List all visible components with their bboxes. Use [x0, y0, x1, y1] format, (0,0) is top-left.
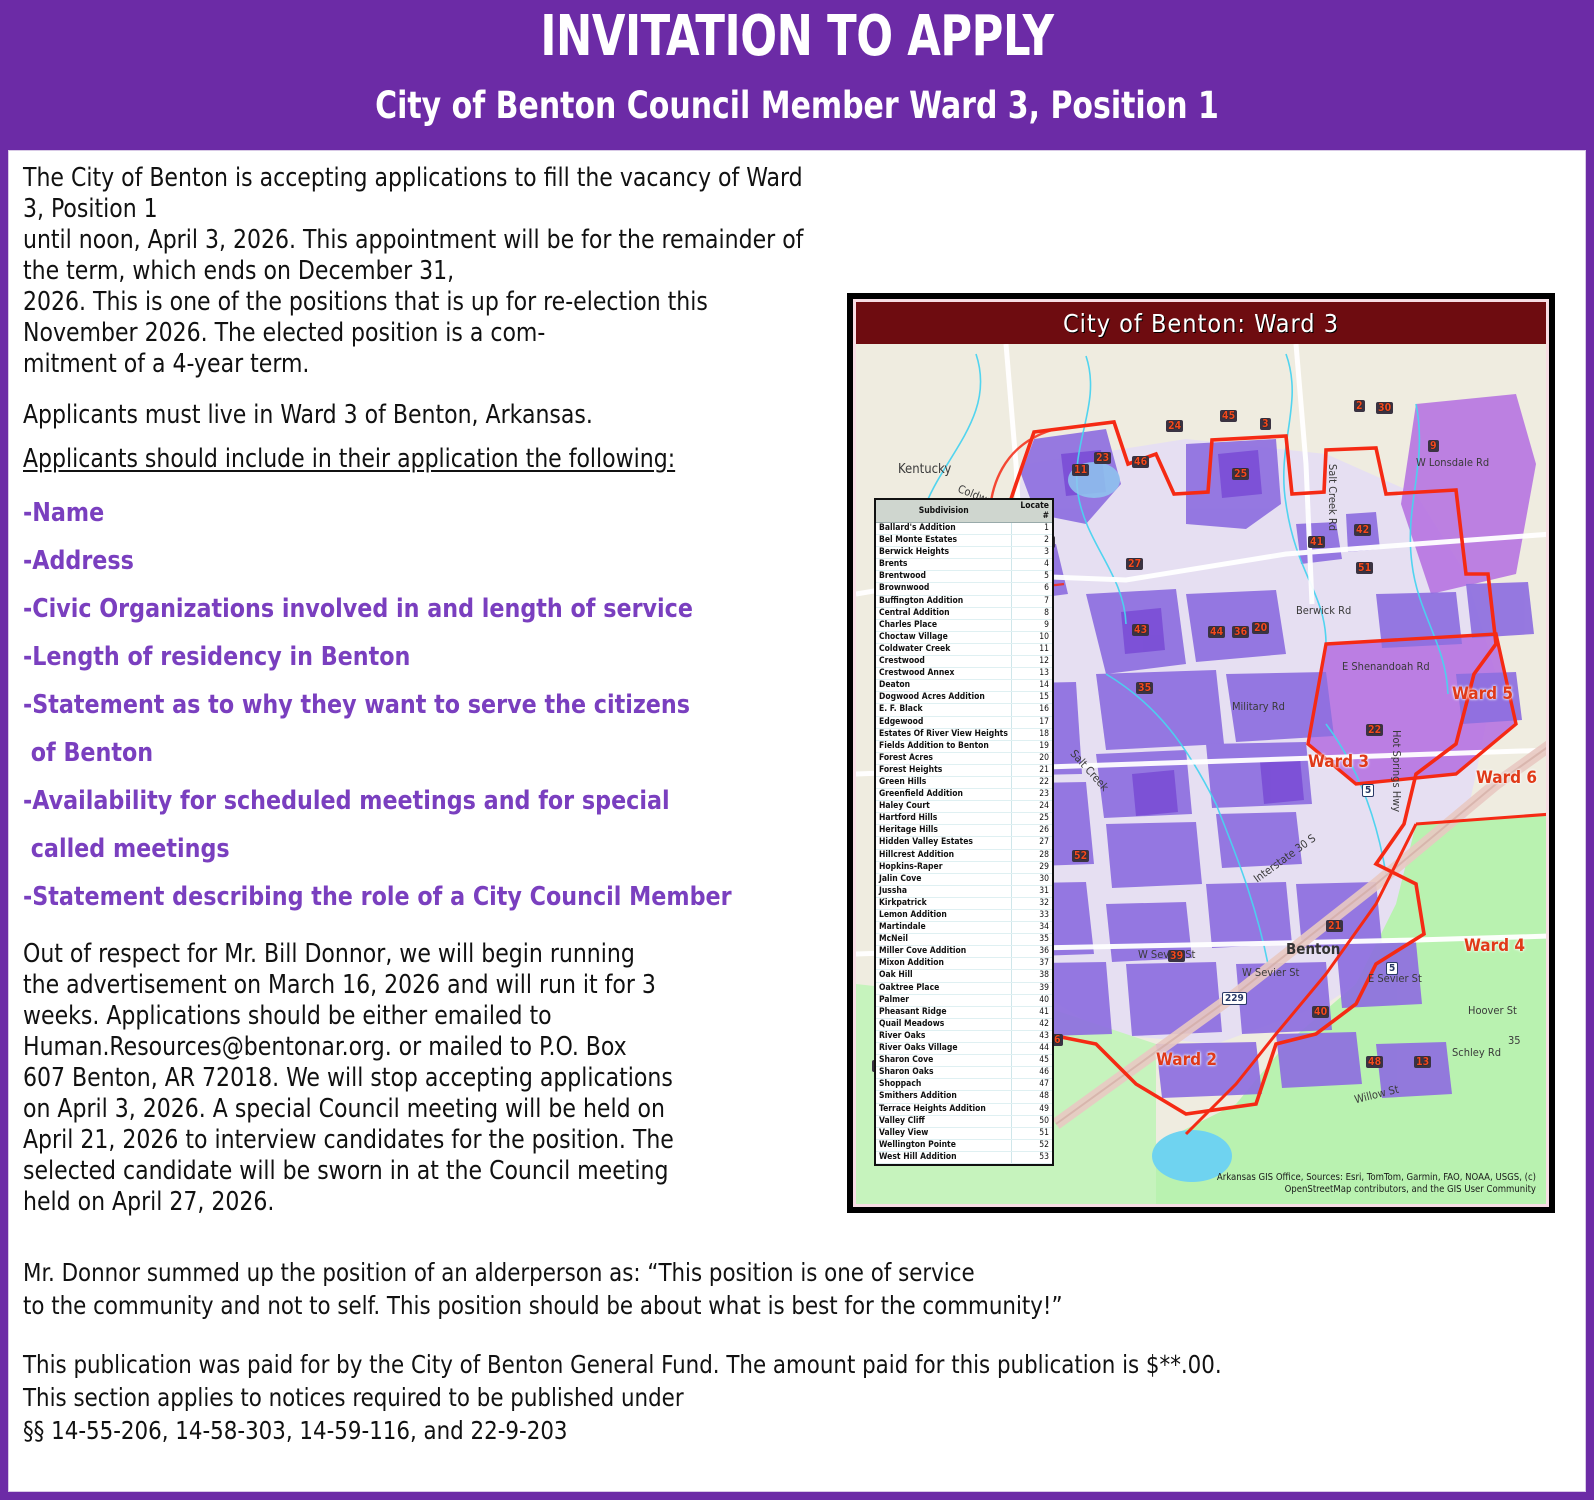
subdivision-marker: 39 — [1168, 950, 1185, 962]
locate-number-cell: 46 — [1011, 1067, 1052, 1079]
ward-label-2: Ward 2 — [1156, 1050, 1217, 1070]
locate-number-cell: 22 — [1011, 776, 1052, 788]
table-row: Quail Meadows42 — [876, 1018, 1052, 1030]
quote-paragraph: Mr. Donnor summed up the position of an … — [23, 1256, 1496, 1322]
subdivision-marker: 9 — [1428, 440, 1439, 452]
locate-number-cell: 4 — [1011, 559, 1052, 571]
subdivision-name-cell: Buffington Addition — [876, 595, 1011, 607]
subdivision-name-cell: Crestwood — [876, 656, 1011, 668]
subdivision-name-cell: Palmer — [876, 994, 1011, 1006]
subdivision-legend[interactable]: Subdivision Locate # Ballard's Addition1… — [874, 498, 1054, 1166]
table-row: Hillcrest Addition28 — [876, 849, 1052, 861]
bottom-text-block: Mr. Donnor summed up the position of an … — [23, 1256, 1573, 1447]
locate-number-cell: 5 — [1011, 571, 1052, 583]
table-row: Valley Cliff50 — [876, 1115, 1052, 1127]
locate-number-cell: 37 — [1011, 958, 1052, 970]
list-item: -Statement describing the role of a City… — [23, 873, 828, 921]
left-text-column: The City of Benton is accepting applicat… — [23, 163, 853, 1218]
table-row: Miller Cove Addition36 — [876, 946, 1052, 958]
table-row: Oaktree Place39 — [876, 982, 1052, 994]
locate-number-cell: 42 — [1011, 1018, 1052, 1030]
table-row: Deaton14 — [876, 680, 1052, 692]
subdivision-name-cell: White Addition — [876, 1163, 1011, 1166]
subdivision-name-cell: Terrace Heights Addition — [876, 1103, 1011, 1115]
locate-number-cell: 7 — [1011, 595, 1052, 607]
locate-number-cell: 25 — [1011, 813, 1052, 825]
table-row: Jussha31 — [876, 885, 1052, 897]
locate-number-cell: 44 — [1011, 1043, 1052, 1055]
subdivision-name-cell: Crestwood Annex — [876, 668, 1011, 680]
locate-number-cell: 54 — [1011, 1163, 1052, 1166]
ward-label-3: Ward 3 — [1308, 752, 1369, 772]
locate-number-cell: 28 — [1011, 849, 1052, 861]
table-row: Jalin Cove30 — [876, 873, 1052, 885]
table-row: Mixon Addition37 — [876, 958, 1052, 970]
table-row: Valley View51 — [876, 1127, 1052, 1139]
subdivision-name-cell: Oaktree Place — [876, 982, 1011, 994]
subdivision-marker: 22 — [1366, 724, 1383, 736]
list-item: called meetings — [23, 825, 828, 873]
locate-number-cell: 38 — [1011, 970, 1052, 982]
locate-number-cell: 24 — [1011, 801, 1052, 813]
locate-number-cell: 2 — [1011, 535, 1052, 547]
table-row: Bel Monte Estates2 — [876, 535, 1052, 547]
subdivision-marker: 24 — [1166, 420, 1183, 432]
subdivision-name-cell: Fields Addition to Benton — [876, 740, 1011, 752]
locate-number-cell: 33 — [1011, 910, 1052, 922]
locate-number-cell: 36 — [1011, 946, 1052, 958]
subdivision-name-cell: Dogwood Acres Addition — [876, 692, 1011, 704]
locate-number-cell: 26 — [1011, 825, 1052, 837]
list-item: -Name — [23, 489, 828, 537]
table-row: Edgewood17 — [876, 716, 1052, 728]
table-row: Buffington Addition7 — [876, 595, 1052, 607]
subdivision-name-cell: Valley Cliff — [876, 1115, 1011, 1127]
list-item: -Length of residency in Benton — [23, 633, 828, 681]
table-row: Brownwood6 — [876, 583, 1052, 595]
table-row: Hopkins-Raper29 — [876, 861, 1052, 873]
table-row: Palmer40 — [876, 994, 1052, 1006]
map-attribution: Arkansas GIS Office, Sources: Esri, TomT… — [1217, 1172, 1536, 1196]
subdivision-name-cell: E. F. Black — [876, 704, 1011, 716]
subdivision-name-cell: Hartford Hills — [876, 813, 1011, 825]
locate-number-cell: 49 — [1011, 1103, 1052, 1115]
subdivision-name-cell: Hillcrest Addition — [876, 849, 1011, 861]
locate-number-cell: 45 — [1011, 1055, 1052, 1067]
subdivision-marker: 35 — [1136, 682, 1153, 694]
subdivision-marker: 42 — [1354, 524, 1371, 536]
list-item: -Civic Organizations involved in and len… — [23, 585, 828, 633]
subdivision-marker: 46 — [1132, 456, 1149, 468]
subdivision-name-cell: Berwick Heights — [876, 547, 1011, 559]
table-row: Martindale34 — [876, 922, 1052, 934]
subdivision-name-cell: Bel Monte Estates — [876, 535, 1011, 547]
intro-paragraph: The City of Benton is accepting applicat… — [23, 163, 820, 380]
subdivision-marker: 21 — [1326, 920, 1343, 932]
subdivision-name-cell: Jalin Cove — [876, 873, 1011, 885]
table-row: Kirkpatrick32 — [876, 897, 1052, 909]
table-row: Berwick Heights3 — [876, 547, 1052, 559]
locate-number-cell: 23 — [1011, 789, 1052, 801]
locate-number-cell: 19 — [1011, 740, 1052, 752]
ward-map-figure: City of Benton: Ward 3 — [847, 293, 1555, 1213]
subdivision-name-cell: Choctaw Village — [876, 631, 1011, 643]
subdivision-name-cell: Deaton — [876, 680, 1011, 692]
funding-paragraph: This publication was paid for by the Cit… — [23, 1348, 1496, 1447]
subdivision-name-cell: Edgewood — [876, 716, 1011, 728]
subdivision-name-cell: Jussha — [876, 885, 1011, 897]
map-inner-frame: City of Benton: Ward 3 — [853, 299, 1549, 1207]
locate-number-cell: 30 — [1011, 873, 1052, 885]
table-row: Sharon Oaks46 — [876, 1067, 1052, 1079]
table-header-row: Subdivision Locate # — [876, 500, 1052, 523]
subdivision-name-cell: Valley View — [876, 1127, 1011, 1139]
subdivision-name-cell: River Oaks Village — [876, 1043, 1011, 1055]
map-attribution-line1: Arkansas GIS Office, Sources: Esri, TomT… — [1217, 1172, 1536, 1184]
subdivision-name-cell: Wellington Pointe — [876, 1139, 1011, 1151]
map-title: City of Benton: Ward 3 — [856, 302, 1546, 344]
table-row: Crestwood12 — [876, 656, 1052, 668]
subdivision-name-cell: Forest Heights — [876, 764, 1011, 776]
subdivision-marker: 45 — [1220, 410, 1237, 422]
table-row: Choctaw Village10 — [876, 631, 1052, 643]
locate-number-cell: 20 — [1011, 752, 1052, 764]
subdivision-name-cell: McNeil — [876, 934, 1011, 946]
map-attribution-line2: OpenStreetMap contributors, and the GIS … — [1217, 1184, 1536, 1196]
locate-number-cell: 9 — [1011, 619, 1052, 631]
table-row: Greenfield Addition23 — [876, 789, 1052, 801]
subdivision-marker: 23 — [1094, 452, 1111, 464]
table-row: McNeil35 — [876, 934, 1052, 946]
locate-number-cell: 50 — [1011, 1115, 1052, 1127]
locate-number-cell: 32 — [1011, 897, 1052, 909]
table-row: Brents4 — [876, 559, 1052, 571]
subdivision-marker: 30 — [1376, 402, 1393, 414]
subdivision-name-cell: Hopkins-Raper — [876, 861, 1011, 873]
subdivision-name-cell: Haley Court — [876, 801, 1011, 813]
locate-number-cell: 52 — [1011, 1139, 1052, 1151]
locate-number-cell: 21 — [1011, 764, 1052, 776]
subdivision-name-cell: Hidden Valley Estates — [876, 837, 1011, 849]
locate-number-cell: 3 — [1011, 547, 1052, 559]
timeline-paragraph: Out of respect for Mr. Bill Donnor, we w… — [23, 939, 820, 1218]
table-row: Lemon Addition33 — [876, 910, 1052, 922]
subdivision-name-cell: Central Addition — [876, 607, 1011, 619]
ward-label-4: Ward 4 — [1464, 936, 1525, 956]
table-row: Oak Hill38 — [876, 970, 1052, 982]
table-row: Crestwood Annex13 — [876, 668, 1052, 680]
subdivision-name-cell: Mixon Addition — [876, 958, 1011, 970]
table-row: Brentwood5 — [876, 571, 1052, 583]
locate-number-cell: 17 — [1011, 716, 1052, 728]
locate-number-cell: 31 — [1011, 885, 1052, 897]
subdivision-name-cell: Estates Of River View Heights — [876, 728, 1011, 740]
table-row: Shoppach47 — [876, 1079, 1052, 1091]
poster-root: INVITATION TO APPLY City of Benton Counc… — [0, 0, 1594, 1500]
subdivision-name-cell: Lemon Addition — [876, 910, 1011, 922]
subdivision-name-cell: Sharon Oaks — [876, 1067, 1011, 1079]
locate-number-cell: 12 — [1011, 656, 1052, 668]
subdivision-marker: 52 — [1072, 850, 1089, 862]
locate-number-cell: 53 — [1011, 1151, 1052, 1163]
locate-number-cell: 41 — [1011, 1006, 1052, 1018]
residency-paragraph: Applicants must live in Ward 3 of Benton… — [23, 400, 820, 431]
locate-number-cell: 39 — [1011, 982, 1052, 994]
subdivision-marker: 13 — [1414, 1056, 1431, 1068]
list-item: -Statement as to why they want to serve … — [23, 681, 828, 729]
table-row: River Oaks Village44 — [876, 1043, 1052, 1055]
route-shield: 5 — [1386, 962, 1398, 975]
application-requirements-list: -Name -Address -Civic Organizations invo… — [23, 489, 853, 921]
locate-number-cell: 51 — [1011, 1127, 1052, 1139]
subdivision-name-cell: Forest Acres — [876, 752, 1011, 764]
subdivision-name-cell: Sharon Cove — [876, 1055, 1011, 1067]
table-row: Dogwood Acres Addition15 — [876, 692, 1052, 704]
locate-number-cell: 27 — [1011, 837, 1052, 849]
subdivision-marker: 40 — [1312, 1006, 1329, 1018]
subdivision-name-cell: Smithers Addition — [876, 1091, 1011, 1103]
subdivision-name-cell: Charles Place — [876, 619, 1011, 631]
locate-number-cell: 14 — [1011, 680, 1052, 692]
route-shield: 5 — [1362, 784, 1374, 797]
subdivision-name-cell: Pheasant Ridge — [876, 1006, 1011, 1018]
list-item: of Benton — [23, 729, 828, 777]
subdivision-marker: 51 — [1356, 562, 1373, 574]
subdivision-name-cell: Brentwood — [876, 571, 1011, 583]
subdivision-table-body: Ballard's Addition1Bel Monte Estates2Ber… — [876, 523, 1052, 1167]
list-item: -Address — [23, 537, 828, 585]
subdivision-name-cell: Brownwood — [876, 583, 1011, 595]
subdivision-name-cell: Miller Cove Addition — [876, 946, 1011, 958]
locate-number-cell: 15 — [1011, 692, 1052, 704]
subdivision-name-cell: Heritage Hills — [876, 825, 1011, 837]
subdivision-name-cell: Coldwater Creek — [876, 643, 1011, 655]
table-row: Heritage Hills26 — [876, 825, 1052, 837]
locate-number-cell: 1 — [1011, 523, 1052, 535]
table-row: Smithers Addition48 — [876, 1091, 1052, 1103]
column-header-locate: Locate # — [1011, 500, 1052, 523]
table-row: White Addition54 — [876, 1163, 1052, 1166]
table-row: Terrace Heights Addition49 — [876, 1103, 1052, 1115]
locate-number-cell: 40 — [1011, 994, 1052, 1006]
table-row: Pheasant Ridge41 — [876, 1006, 1052, 1018]
column-header-subdivision: Subdivision — [876, 500, 1011, 523]
table-row: E. F. Black16 — [876, 704, 1052, 716]
subdivision-marker: 11 — [1072, 464, 1089, 476]
locate-number-cell: 18 — [1011, 728, 1052, 740]
subdivision-name-cell: River Oaks — [876, 1030, 1011, 1042]
table-row: Hartford Hills25 — [876, 813, 1052, 825]
subdivision-name-cell: Oak Hill — [876, 970, 1011, 982]
page-subtitle: City of Benton Council Member Ward 3, Po… — [80, 65, 1515, 124]
poster-header: INVITATION TO APPLY City of Benton Counc… — [0, 0, 1594, 148]
locate-number-cell: 47 — [1011, 1079, 1052, 1091]
application-list-heading: Applicants should include in their appli… — [23, 443, 675, 475]
table-row: Hidden Valley Estates27 — [876, 837, 1052, 849]
page-title: INVITATION TO APPLY — [112, 0, 1483, 65]
locate-number-cell: 48 — [1011, 1091, 1052, 1103]
ward-label-5: Ward 5 — [1452, 684, 1513, 704]
subdivision-marker: 41 — [1308, 536, 1325, 548]
table-row: West Hill Addition53 — [876, 1151, 1052, 1163]
locate-number-cell: 10 — [1011, 631, 1052, 643]
locate-number-cell: 11 — [1011, 643, 1052, 655]
table-row: Wellington Pointe52 — [876, 1139, 1052, 1151]
table-row: Ballard's Addition1 — [876, 523, 1052, 535]
subdivision-name-cell: Greenfield Addition — [876, 789, 1011, 801]
table-row: Coldwater Creek11 — [876, 643, 1052, 655]
body-card: The City of Benton is accepting applicat… — [8, 150, 1586, 1492]
locate-number-cell: 8 — [1011, 607, 1052, 619]
subdivision-marker: 27 — [1126, 558, 1143, 570]
route-shield: 229 — [1222, 992, 1247, 1005]
table-row: River Oaks43 — [876, 1030, 1052, 1042]
subdivision-name-cell: Martindale — [876, 922, 1011, 934]
table-row: Estates Of River View Heights18 — [876, 728, 1052, 740]
locate-number-cell: 43 — [1011, 1030, 1052, 1042]
locate-number-cell: 16 — [1011, 704, 1052, 716]
subdivision-marker: 36 — [1232, 626, 1249, 638]
subdivision-marker: 25 — [1232, 468, 1249, 480]
table-row: Sharon Cove45 — [876, 1055, 1052, 1067]
locate-number-cell: 6 — [1011, 583, 1052, 595]
table-row: Central Addition8 — [876, 607, 1052, 619]
table-row: Charles Place9 — [876, 619, 1052, 631]
table-row: Forest Acres20 — [876, 752, 1052, 764]
locate-number-cell: 34 — [1011, 922, 1052, 934]
locate-number-cell: 13 — [1011, 668, 1052, 680]
table-row: Haley Court24 — [876, 801, 1052, 813]
subdivision-name-cell: Quail Meadows — [876, 1018, 1011, 1030]
locate-number-cell: 29 — [1011, 861, 1052, 873]
subdivision-name-cell: Green Hills — [876, 776, 1011, 788]
subdivision-marker: 48 — [1366, 1056, 1383, 1068]
subdivision-marker: 20 — [1252, 622, 1269, 634]
table-row: Fields Addition to Benton19 — [876, 740, 1052, 752]
subdivision-marker: 43 — [1132, 624, 1149, 636]
subdivision-marker: 44 — [1208, 626, 1225, 638]
subdivision-name-cell: Kirkpatrick — [876, 897, 1011, 909]
subdivision-name-cell: Shoppach — [876, 1079, 1011, 1091]
locate-number-cell: 35 — [1011, 934, 1052, 946]
table-row: Forest Heights21 — [876, 764, 1052, 776]
subdivision-name-cell: West Hill Addition — [876, 1151, 1011, 1163]
subdivision-marker: 3 — [1260, 418, 1271, 430]
table-row: Green Hills22 — [876, 776, 1052, 788]
city-label-benton: Benton — [1286, 940, 1340, 958]
subdivision-table: Subdivision Locate # Ballard's Addition1… — [876, 500, 1052, 1166]
ward-label-6: Ward 6 — [1476, 768, 1537, 788]
subdivision-name-cell: Ballard's Addition — [876, 523, 1011, 535]
subdivision-name-cell: Brents — [876, 559, 1011, 571]
subdivision-marker: 2 — [1354, 400, 1365, 412]
list-item: -Availability for scheduled meetings and… — [23, 777, 828, 825]
